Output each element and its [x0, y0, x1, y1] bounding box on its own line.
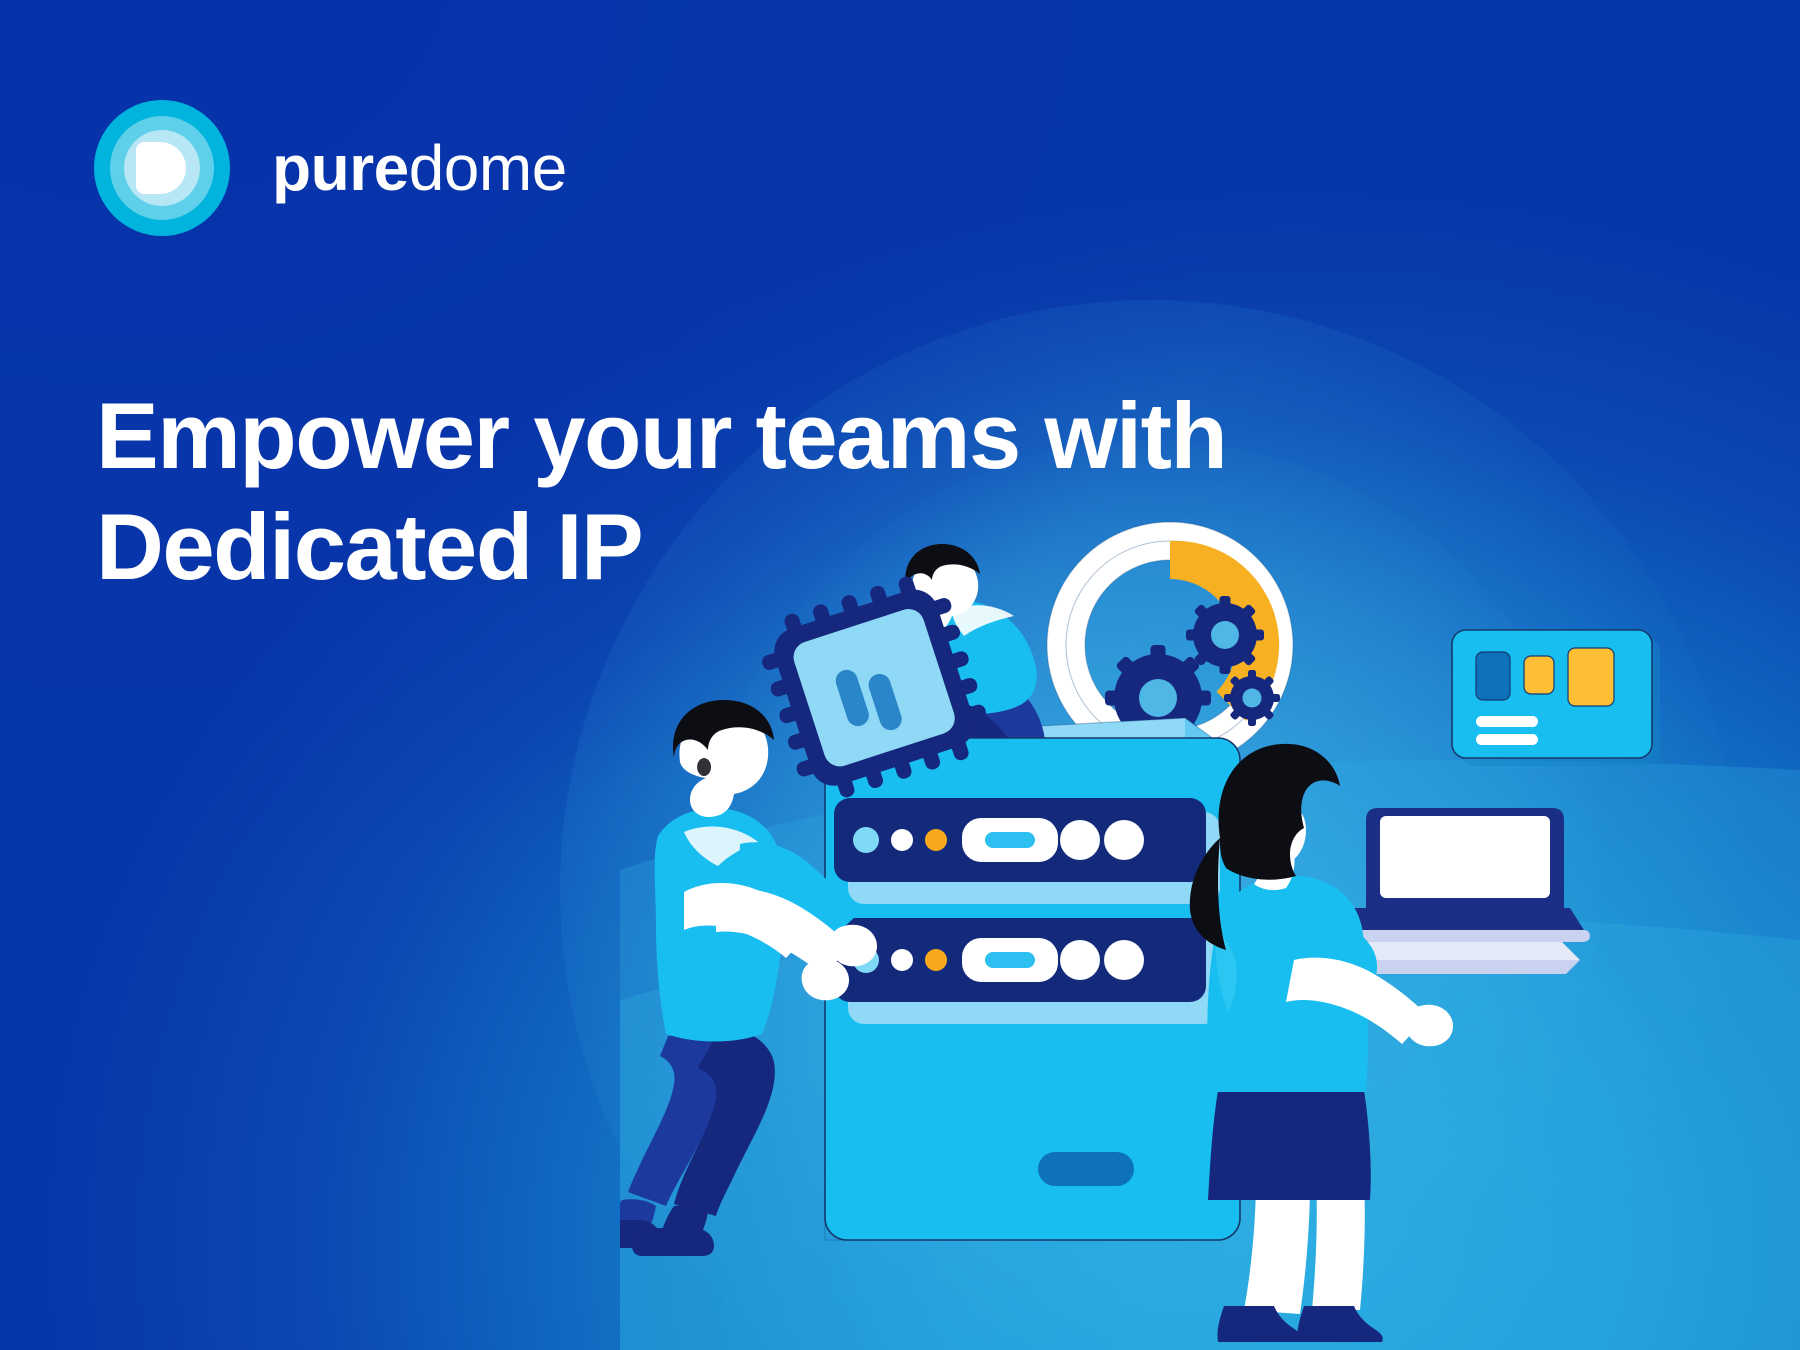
brand-logo[interactable]: puredome: [92, 98, 567, 238]
hero-banner: puredome Empower your teams with Dedicat…: [0, 0, 1800, 1350]
server-unit: [834, 918, 1206, 1002]
card-text-line-2: [1476, 734, 1538, 745]
server-handle: [1038, 1152, 1134, 1186]
server-unit: [834, 798, 1206, 882]
bar-amber-tall: [1568, 648, 1614, 706]
status-dot-amber: [925, 949, 947, 971]
wordmark-pure: pure: [272, 136, 409, 200]
laptop-icon: [1338, 808, 1590, 942]
puredome-dome-logo-icon: [92, 98, 232, 238]
analytics-card: [1452, 630, 1660, 766]
server-rack: [825, 738, 1240, 1240]
card-text-line-1: [1476, 716, 1538, 727]
wordmark-dome: dome: [409, 136, 567, 200]
dedicated-ip-server-team-illustration: [620, 440, 1800, 1350]
brand-wordmark: puredome: [272, 136, 567, 200]
status-dot-amber: [925, 829, 947, 851]
status-dot-cyan: [853, 827, 879, 853]
status-dot-white: [891, 829, 913, 851]
bar-amber-short: [1524, 656, 1554, 694]
bar-blue: [1476, 652, 1510, 700]
status-dot-white: [891, 949, 913, 971]
